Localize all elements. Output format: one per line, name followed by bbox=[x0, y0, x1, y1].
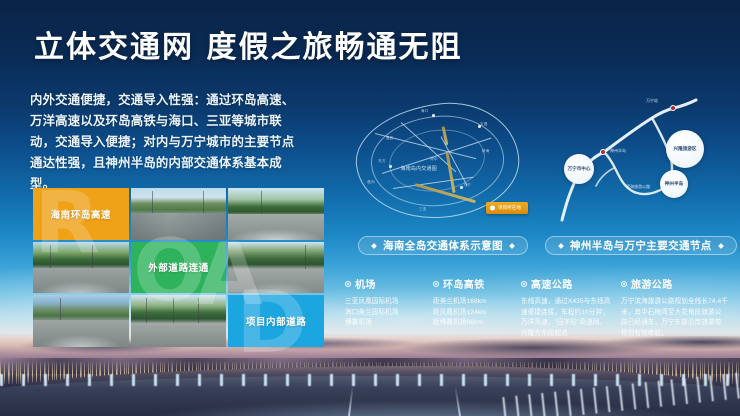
node-label: 万宁站 bbox=[646, 98, 658, 104]
info-column-airport: 机场 三亚凤凰国际机场 海口美兰国际机场 博鳌机场 bbox=[336, 276, 424, 339]
road-photo bbox=[131, 295, 227, 347]
road-photo bbox=[228, 188, 324, 240]
map-place-label: 万宁 bbox=[463, 183, 471, 188]
grid-photo-2 bbox=[228, 188, 324, 240]
node-marker-wanning-station bbox=[670, 105, 676, 111]
map-hainan-island: 东方 海口 文昌 琼海 万宁 三亚 儋州 澄迈 琼中 海南岛内交通图 项目所在地 bbox=[345, 96, 530, 228]
column-title: 环岛高铁 bbox=[443, 276, 485, 291]
grid-photo-6 bbox=[131, 295, 227, 347]
column-line: 距美兰机场168km bbox=[433, 297, 512, 308]
column-line: 东线高速，通过X435与东线高速便捷连接，车程约10分钟； bbox=[521, 297, 612, 318]
grid-photo-1 bbox=[131, 188, 227, 240]
grid-photo-3 bbox=[33, 242, 129, 294]
gear-icon bbox=[433, 281, 439, 287]
column-header: 机场 bbox=[345, 276, 424, 291]
road-photo bbox=[33, 295, 129, 347]
column-line: 万洋高速，"田字形"高速网，兴隆为东段起点 bbox=[521, 318, 612, 339]
column-title: 高速公路 bbox=[531, 276, 573, 291]
intro-paragraph: 内外交通便捷，交通导入性强：通过环岛高速、万洋高速以及环岛高铁与海口、三亚等城市… bbox=[30, 90, 302, 195]
grid-tile-green: 外部道路连通 bbox=[131, 242, 227, 294]
node-label: 神州半岛 bbox=[610, 148, 626, 154]
diamond-icon bbox=[509, 243, 515, 249]
diamond-icon bbox=[558, 243, 564, 249]
column-body: 万宁滨海旅游公路规划全线长74.4千米，其中石梅湾至大花角段旅游公路已经通车，万… bbox=[621, 297, 728, 339]
grid-photo-5 bbox=[33, 295, 129, 347]
column-body: 距美兰机场168km 距凤凰机场124km 距博鳌机场66km bbox=[433, 297, 512, 329]
column-title: 旅游公路 bbox=[631, 276, 673, 291]
map-place-label: 琼中 bbox=[430, 157, 438, 162]
road-photo bbox=[228, 242, 324, 294]
grid-tile-blue: 项目内部道路 bbox=[228, 295, 324, 347]
caption-text: 神州半岛与万宁主要交通节点 bbox=[570, 238, 712, 253]
column-line: 博鳌机场 bbox=[345, 318, 424, 329]
column-line: 距博鳌机场66km bbox=[433, 318, 512, 329]
gear-icon bbox=[621, 281, 627, 287]
column-line: 万宁滨海旅游公路规划全线长74.4千米，其中石梅湾至大花角段旅游公路已经通车，万… bbox=[621, 297, 728, 339]
node-marker-junction bbox=[600, 149, 606, 155]
column-header: 旅游公路 bbox=[621, 276, 728, 291]
map-title-text: 海南岛内交通图 bbox=[401, 165, 437, 172]
map-badge-project-location: 项目所在地 bbox=[486, 202, 528, 214]
slide-root: 立体交通网 度假之旅畅通无阻 内外交通便捷，交通导入性强：通过环岛高速、万洋高速… bbox=[0, 0, 740, 416]
road-photo bbox=[131, 188, 227, 240]
map-place-label: 儋州 bbox=[367, 180, 375, 185]
map-place-label: 东方 bbox=[378, 159, 386, 164]
info-column-highspeed-rail: 环岛高铁 距美兰机场168km 距凤凰机场124km 距博鳌机场66km bbox=[424, 276, 512, 339]
road-label: 滨海旅游公路 bbox=[626, 184, 650, 190]
column-body: 三亚凤凰国际机场 海口美兰国际机场 博鳌机场 bbox=[345, 297, 424, 329]
map-place-label: 海口 bbox=[421, 109, 429, 114]
map-circle-label: 神州半岛 bbox=[660, 170, 688, 198]
tile-label-text: 项目内部道路 bbox=[246, 314, 307, 328]
gear-icon bbox=[521, 281, 527, 287]
column-line: 海口美兰国际机场 bbox=[345, 308, 424, 319]
caption-map-hainan: 海南全岛交通体系示意图 bbox=[358, 236, 528, 255]
map-circle-label: 兴隆旅游区 bbox=[666, 130, 704, 168]
grid-photo-4 bbox=[228, 242, 324, 294]
label-tile-highway: 海南环岛高速 bbox=[33, 188, 129, 240]
info-column-tourism-road: 旅游公路 万宁滨海旅游公路规划全线长74.4千米，其中石梅湾至大花角段旅游公路已… bbox=[612, 276, 728, 339]
grid-tile-orange: 海南环岛高速 bbox=[33, 188, 129, 240]
column-line: 距凤凰机场124km bbox=[433, 308, 512, 319]
diamond-icon bbox=[718, 243, 724, 249]
map-wanning-nodes: 万宁站 神州半岛 环岛高铁 滨海旅游公路 万宁市中心 兴隆旅游区 神州半岛 bbox=[548, 96, 730, 228]
map-circle-label: 万宁市中心 bbox=[564, 154, 594, 184]
column-header: 环岛高铁 bbox=[433, 276, 512, 291]
night-cityscape-photo bbox=[0, 336, 740, 416]
diamond-icon bbox=[371, 243, 377, 249]
gear-icon bbox=[345, 281, 351, 287]
tile-label-text: 外部道路连通 bbox=[148, 260, 209, 274]
hainan-map-graphic: 东方 海口 文昌 琼海 万宁 三亚 儋州 澄迈 琼中 海南岛内交通图 项目所在地 bbox=[345, 96, 530, 228]
map-place-label: 文昌 bbox=[480, 122, 488, 127]
caption-text: 海南全岛交通体系示意图 bbox=[383, 238, 503, 253]
wanning-map-graphic: 万宁站 神州半岛 环岛高铁 滨海旅游公路 万宁市中心 兴隆旅游区 神州半岛 bbox=[548, 96, 730, 228]
map-place-label: 澄迈 bbox=[386, 136, 394, 141]
photo-grid: 海南环岛高速 外部道路连通 bbox=[33, 188, 324, 347]
column-header: 高速公路 bbox=[521, 276, 612, 291]
page-title: 立体交通网 度假之旅畅通无阻 bbox=[34, 22, 462, 66]
info-columns: 机场 三亚凤凰国际机场 海口美兰国际机场 博鳌机场 环岛高铁 距美兰机场168k… bbox=[336, 276, 728, 339]
map-place-label: 琼海 bbox=[482, 149, 490, 154]
tile-label-text: 海南环岛高速 bbox=[51, 207, 112, 221]
label-tile-external-road: 外部道路连通 bbox=[131, 242, 227, 294]
map-place-label: 三亚 bbox=[419, 207, 427, 212]
info-column-expressway: 高速公路 东线高速，通过X435与东线高速便捷连接，车程约10分钟； 万洋高速，… bbox=[512, 276, 612, 339]
column-line: 三亚凤凰国际机场 bbox=[345, 297, 424, 308]
road-photo bbox=[33, 242, 129, 294]
column-title: 机场 bbox=[355, 276, 376, 291]
label-tile-internal-road: 项目内部道路 bbox=[228, 295, 324, 347]
column-body: 东线高速，通过X435与东线高速便捷连接，车程约10分钟； 万洋高速，"田字形"… bbox=[521, 297, 612, 339]
caption-map-wanning: 神州半岛与万宁主要交通节点 bbox=[545, 236, 737, 255]
